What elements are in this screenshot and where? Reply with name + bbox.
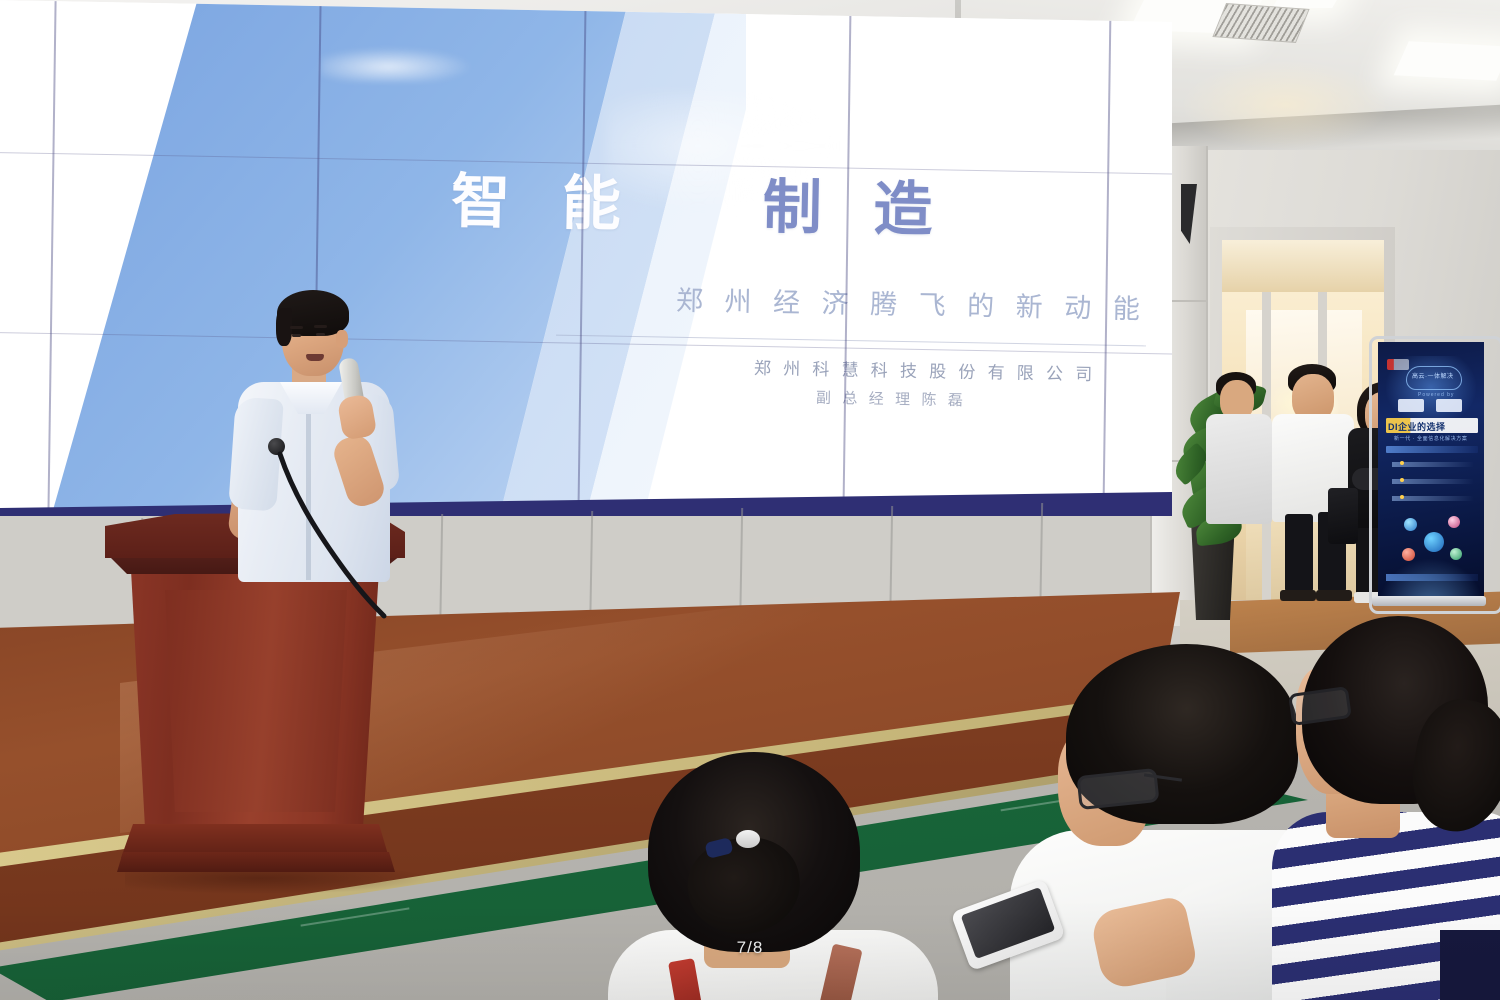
- door-transom: [1222, 240, 1384, 292]
- slide-title-blue: 制 造: [762, 174, 951, 243]
- air-vent-icon: [1212, 3, 1309, 43]
- banner-cloud-label: 高云·一体解决: [1412, 371, 1454, 380]
- rollup-banner: 高云·一体解决 Powered by DI企业的选择 新一代 · 全面信息化解决…: [1374, 330, 1492, 612]
- microphone-cable: [272, 450, 392, 620]
- presenter-brow: [314, 325, 327, 328]
- ceiling-light-icon: [1394, 41, 1500, 81]
- slide-text-block: 智 能 制 造 郑 州 经 济 腾 飞 的 新 动 能 郑 州 科 慧 科 技 …: [0, 0, 1176, 516]
- banner-logo-icon: [1387, 359, 1409, 370]
- presenter-eye: [292, 334, 301, 337]
- slide-title: 智 能 制 造: [451, 172, 1072, 242]
- banner-text-row: [1392, 462, 1474, 467]
- presenter-ear: [336, 330, 348, 348]
- banner-text-row: [1392, 496, 1474, 501]
- banner-text-row: [1392, 479, 1474, 484]
- hair-pin-icon: [736, 830, 760, 848]
- slide-presenter: 副 总 经 理 陈 磊: [816, 387, 967, 411]
- banner-bullet-icon: [1400, 461, 1404, 465]
- banner-partner-chip: [1436, 399, 1462, 412]
- slide-divider: [556, 335, 1146, 347]
- banner-base: [1372, 596, 1486, 606]
- presenter-mouth: [306, 354, 324, 361]
- banner-section-bar: [1386, 446, 1478, 453]
- banner-bullet-icon: [1400, 495, 1404, 499]
- lectern-front-panel: [165, 590, 347, 812]
- presenter-eye: [316, 333, 325, 336]
- person-torso: [1206, 414, 1272, 524]
- photo-scene: 智 能 制 造 郑 州 经 济 腾 飞 的 新 动 能 郑 州 科 慧 科 技 …: [0, 0, 1500, 1000]
- video-wall: 智 能 制 造 郑 州 经 济 腾 飞 的 新 动 能 郑 州 科 慧 科 技 …: [0, 0, 1176, 530]
- presenter: [232, 286, 422, 586]
- page-indicator: 7/8: [0, 938, 1500, 958]
- person-leg: [1285, 514, 1313, 592]
- banner-headline: DI企业的选择: [1388, 420, 1446, 433]
- ceiling-glow: [1180, 60, 1390, 150]
- banner-subline: 新一代 · 全面信息化解决方案: [1394, 435, 1467, 442]
- diagram-node: [1404, 518, 1417, 531]
- handbag: [1328, 488, 1358, 544]
- presenter-brow: [290, 326, 303, 329]
- slide-organization: 郑 州 科 慧 科 技 股 份 有 限 公 司: [754, 354, 1096, 385]
- slide-subtitle: 郑 州 经 济 腾 飞 的 新 动 能: [676, 279, 1148, 327]
- diagram-node: [1424, 532, 1444, 552]
- banner-powered-by: Powered by: [1418, 392, 1454, 398]
- banner-footer-glow: [1378, 558, 1484, 596]
- banner-artwork: 高云·一体解决 Powered by DI企业的选择 新一代 · 全面信息化解决…: [1378, 342, 1484, 596]
- banner-bullet-icon: [1400, 478, 1404, 482]
- video-wall-screen: 智 能 制 造 郑 州 经 济 腾 飞 的 新 动 能 郑 州 科 慧 科 技 …: [0, 0, 1176, 516]
- person-shoe: [1316, 590, 1352, 601]
- diagram-node: [1448, 516, 1460, 528]
- lectern-plinth: [117, 852, 395, 872]
- person-shoe: [1280, 590, 1316, 601]
- slide-title-white: 智 能: [450, 168, 639, 237]
- banner-partner-chip: [1398, 399, 1424, 412]
